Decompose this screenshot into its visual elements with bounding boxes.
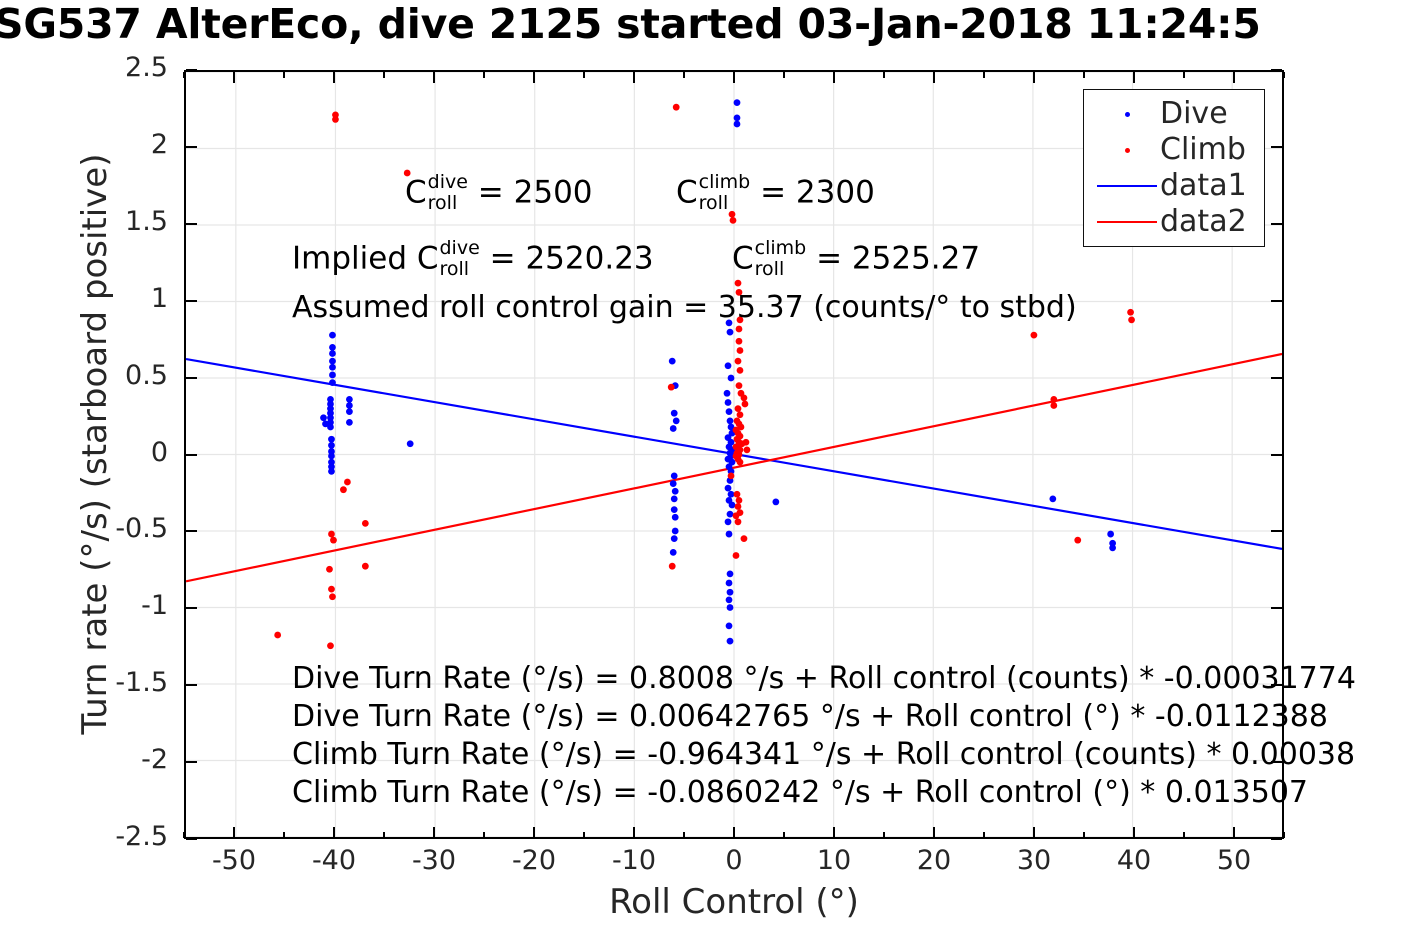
- implied-dive-value: = 2520.23: [480, 241, 654, 277]
- implied-climb-value: = 2525.27: [806, 241, 980, 277]
- x-tick-label: -40: [289, 845, 379, 876]
- x-tick-mark-top: [833, 72, 835, 83]
- legend-line-icon: [1097, 221, 1157, 223]
- x-tick-mark: [933, 827, 935, 838]
- y-tick-mark: [186, 146, 197, 148]
- x-tick-mark-minor-top: [983, 72, 985, 78]
- x-tick-mark: [333, 827, 335, 838]
- regression-equation-line: Climb Turn Rate (°/s) = -0.964341 °/s + …: [292, 736, 1417, 774]
- x-tick-mark-minor: [583, 832, 585, 838]
- c-climb-subscript: roll: [699, 194, 751, 213]
- legend-symbol: [1094, 185, 1160, 187]
- x-tick-label: 20: [889, 845, 979, 876]
- x-tick-mark-top: [1133, 72, 1135, 83]
- x-tick-mark-top: [333, 72, 335, 83]
- legend[interactable]: DiveClimbdata1data2: [1083, 89, 1265, 247]
- x-tick-mark: [1133, 827, 1135, 838]
- implied-dive-script: diveroll: [440, 239, 480, 279]
- x-tick-mark-top: [233, 72, 235, 83]
- y-tick-mark: [186, 69, 197, 71]
- x-tick-mark-minor-top: [283, 72, 285, 78]
- legend-marker-icon: [1125, 112, 1130, 117]
- legend-symbol: [1094, 221, 1160, 223]
- legend-label: data2: [1160, 207, 1247, 237]
- implied-climb-symbol: C: [732, 241, 754, 277]
- x-tick-mark-minor-top: [1183, 72, 1185, 78]
- c-dive-script: diveroll: [428, 173, 468, 213]
- implied-climb-subscript: roll: [755, 260, 807, 279]
- c-climb-script: climbroll: [699, 173, 751, 213]
- regression-equation-block: Dive Turn Rate (°/s) = 0.8008 °/s + Roll…: [292, 660, 1417, 812]
- y-tick-mark-right: [1271, 530, 1282, 532]
- c-climb-value: = 2300: [750, 175, 875, 211]
- y-tick-mark: [186, 838, 197, 840]
- regression-equation-line: Dive Turn Rate (°/s) = 0.8008 °/s + Roll…: [292, 660, 1417, 698]
- x-tick-label: -20: [489, 845, 579, 876]
- implied-climb-superscript: climb: [755, 239, 807, 258]
- legend-marker-icon: [1125, 148, 1130, 153]
- implied-prefix: Implied C: [292, 241, 439, 277]
- x-tick-label: -30: [389, 845, 479, 876]
- y-tick-mark: [186, 530, 197, 532]
- implied-climb-script: climbroll: [755, 239, 807, 279]
- y-tick-mark-right: [1271, 838, 1282, 840]
- annotation-implied-dive: Implied Cdiveroll = 2520.23: [292, 240, 654, 280]
- implied-dive-subscript: roll: [440, 260, 480, 279]
- y-tick-mark-right: [1271, 607, 1282, 609]
- y-tick-mark: [186, 684, 197, 686]
- legend-item-dive[interactable]: Dive: [1084, 96, 1264, 132]
- x-tick-label: -10: [589, 845, 679, 876]
- x-tick-mark-minor: [283, 832, 285, 838]
- x-tick-mark-minor: [783, 832, 785, 838]
- y-axis-title-wrapper: Turn rate (°/s) (starboard positive): [75, 44, 115, 844]
- x-tick-mark: [1033, 827, 1035, 838]
- y-tick-mark-right: [1271, 69, 1282, 71]
- regression-equation-line: Climb Turn Rate (°/s) = -0.0860242 °/s +…: [292, 774, 1417, 812]
- x-tick-mark-minor: [883, 832, 885, 838]
- x-tick-mark: [833, 827, 835, 838]
- x-tick-mark: [433, 827, 435, 838]
- x-tick-mark-minor: [1083, 832, 1085, 838]
- c-dive-subscript: roll: [428, 194, 468, 213]
- annotation-c-roll-climb: Cclimbroll = 2300: [676, 174, 875, 214]
- y-tick-mark-right: [1271, 146, 1282, 148]
- legend-item-climb[interactable]: Climb: [1084, 132, 1264, 168]
- x-tick-mark-minor-top: [383, 72, 385, 78]
- x-tick-mark: [733, 827, 735, 838]
- y-tick-mark: [186, 761, 197, 763]
- x-tick-mark-top: [433, 72, 435, 83]
- x-tick-mark-top: [633, 72, 635, 83]
- c-climb-superscript: climb: [699, 173, 751, 192]
- y-tick-mark: [186, 223, 197, 225]
- c-climb-symbol: C: [676, 175, 698, 211]
- x-tick-mark-minor: [983, 832, 985, 838]
- x-tick-mark-minor: [683, 832, 685, 838]
- x-tick-mark: [533, 827, 535, 838]
- x-tick-mark-top: [533, 72, 535, 83]
- legend-symbol: [1094, 112, 1160, 117]
- y-tick-mark: [186, 377, 197, 379]
- y-tick-mark: [186, 454, 197, 456]
- y-tick-mark: [186, 607, 197, 609]
- legend-item-data2[interactable]: data2: [1084, 204, 1264, 240]
- x-tick-mark-top: [1233, 72, 1235, 83]
- x-tick-mark-top: [733, 72, 735, 83]
- x-tick-mark-top: [933, 72, 935, 83]
- c-dive-symbol: C: [405, 175, 427, 211]
- legend-symbol: [1094, 148, 1160, 153]
- x-tick-label: 50: [1189, 845, 1279, 876]
- x-tick-mark-minor-top: [483, 72, 485, 78]
- x-tick-mark-minor-top: [183, 72, 185, 78]
- x-tick-mark-minor-top: [883, 72, 885, 78]
- y-tick-mark-right: [1271, 300, 1282, 302]
- legend-label: Dive: [1160, 99, 1228, 129]
- x-tick-mark-minor-top: [683, 72, 685, 78]
- x-tick-mark-minor: [183, 832, 185, 838]
- y-tick-mark-right: [1271, 454, 1282, 456]
- x-tick-mark: [233, 827, 235, 838]
- x-tick-mark-minor-top: [583, 72, 585, 78]
- x-tick-mark-minor-top: [783, 72, 785, 78]
- c-dive-value: = 2500: [468, 175, 593, 211]
- x-tick-mark-minor: [1183, 832, 1185, 838]
- c-dive-superscript: dive: [428, 173, 468, 192]
- y-tick-mark: [186, 300, 197, 302]
- x-tick-mark-minor-top: [1283, 72, 1285, 78]
- y-axis-title: Turn rate (°/s) (starboard positive): [75, 154, 115, 735]
- x-axis-title: Roll Control (°): [184, 882, 1284, 922]
- x-tick-mark: [633, 827, 635, 838]
- y-tick-mark-right: [1271, 223, 1282, 225]
- figure-canvas: SG537 AlterEco, dive 2125 started 03-Jan…: [0, 0, 1417, 945]
- annotation-implied-climb: Cclimbroll = 2525.27: [732, 240, 980, 280]
- x-tick-label: 10: [789, 845, 879, 876]
- x-tick-label: 40: [1089, 845, 1179, 876]
- x-tick-label: 0: [689, 845, 779, 876]
- x-tick-mark-minor-top: [1083, 72, 1085, 78]
- legend-label: Climb: [1160, 135, 1246, 165]
- x-tick-mark-top: [1033, 72, 1035, 83]
- y-tick-mark-right: [1271, 377, 1282, 379]
- legend-line-icon: [1097, 185, 1157, 187]
- x-tick-mark-minor: [483, 832, 485, 838]
- page-title: SG537 AlterEco, dive 2125 started 03-Jan…: [0, 0, 1417, 52]
- annotation-roll-control-gain: Assumed roll control gain = 35.37 (count…: [292, 293, 1077, 323]
- legend-item-data1[interactable]: data1: [1084, 168, 1264, 204]
- x-tick-label: -50: [189, 845, 279, 876]
- x-tick-mark-minor: [1283, 832, 1285, 838]
- implied-dive-superscript: dive: [440, 239, 480, 258]
- x-tick-mark: [1233, 827, 1235, 838]
- x-tick-mark-minor: [383, 832, 385, 838]
- legend-label: data1: [1160, 171, 1247, 201]
- x-tick-label: 30: [989, 845, 1079, 876]
- regression-equation-line: Dive Turn Rate (°/s) = 0.00642765 °/s + …: [292, 698, 1417, 736]
- annotation-c-roll-dive: Cdiveroll = 2500: [405, 174, 593, 214]
